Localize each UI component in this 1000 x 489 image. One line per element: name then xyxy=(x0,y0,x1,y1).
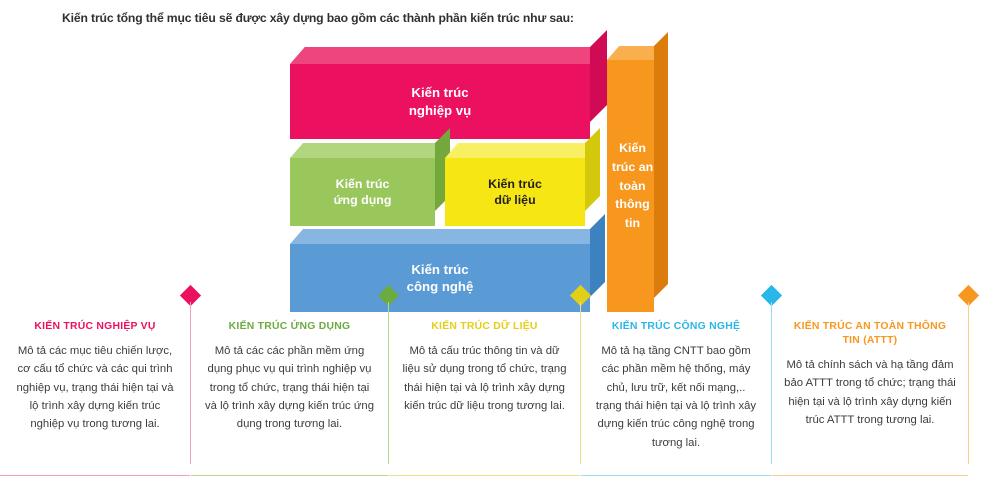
legend-title-security: KIẾN TRÚC AN TOÀN THÔNG TIN (ATTT) xyxy=(784,320,956,348)
legend-body-data: Mô tả cấu trúc thông tin và dữ liệu sử d… xyxy=(401,342,568,415)
legend-title-business: KIẾN TRÚC NGHIỆP VỤ xyxy=(12,320,178,334)
block-business-top-face xyxy=(290,47,605,64)
legend-column-technology: KIẾN TRÚC CÔNG NGHỆ Mô tả hạ tầng CNTT b… xyxy=(581,288,771,489)
block-business-side-face xyxy=(590,30,607,122)
block-technology-label-line1: Kiến trúc xyxy=(411,262,468,277)
architecture-legend: KIẾN TRÚC NGHIỆP VỤ Mô tả các mục tiêu c… xyxy=(0,288,1000,489)
block-business-front-face: Kiến trúc nghiệp vụ xyxy=(290,64,590,139)
baseline-security xyxy=(772,475,968,476)
page-title: Kiến trúc tổng thể mục tiêu sẽ được xây … xyxy=(62,11,574,25)
block-data-front-face: Kiến trúc dữ liệu xyxy=(445,158,585,226)
block-technology-side-face xyxy=(590,214,605,297)
block-data-architecture: Kiến trúc dữ liệu xyxy=(445,158,585,226)
legend-column-application: KIẾN TRÚC ỨNG DỤNG Mô tả các các phần mề… xyxy=(191,288,388,489)
divider-security xyxy=(968,302,969,464)
baseline-business xyxy=(0,475,190,476)
block-data-side-face xyxy=(585,128,600,211)
block-application-label-line1: Kiến trúc xyxy=(336,177,390,191)
legend-title-application: KIẾN TRÚC ỨNG DỤNG xyxy=(203,320,376,334)
baseline-application xyxy=(191,475,388,476)
legend-column-business: KIẾN TRÚC NGHIỆP VỤ Mô tả các mục tiêu c… xyxy=(0,288,190,489)
block-data-top-face xyxy=(445,143,598,158)
legend-body-security: Mô tả chính sách và hạ tầng đảm bảo ATTT… xyxy=(784,356,956,429)
legend-column-data: KIẾN TRÚC DỮ LIỆU Mô tả cấu trúc thông t… xyxy=(389,288,580,489)
block-security-side-face xyxy=(654,32,668,298)
legend-title-technology: KIẾN TRÚC CÔNG NGHỆ xyxy=(593,320,759,334)
legend-body-business: Mô tả các mục tiêu chiến lược, cơ cấu tổ… xyxy=(12,342,178,433)
block-security-architecture: Kiến trúc an toàn thông tin xyxy=(607,60,654,312)
block-data-label-line2: dữ liệu xyxy=(494,193,535,207)
block-application-top-face xyxy=(290,143,448,158)
block-business-architecture: Kiến trúc nghiệp vụ xyxy=(290,64,590,139)
block-application-front-face: Kiến trúc ứng dụng xyxy=(290,158,435,226)
architecture-diagram: Kiến trúc nghiệp vụ Kiến trúc ứng dụng K… xyxy=(283,47,683,292)
block-application-label-line2: ứng dụng xyxy=(334,193,392,207)
legend-body-technology: Mô tả hạ tầng CNTT bao gồm các phần mềm … xyxy=(593,342,759,452)
block-business-label-line2: nghiệp vụ xyxy=(409,103,471,118)
legend-body-application: Mô tả các các phần mềm ứng dụng phục vụ … xyxy=(203,342,376,433)
block-data-label-line1: Kiến trúc xyxy=(488,177,542,191)
block-security-front-face: Kiến trúc an toàn thông tin xyxy=(607,60,654,312)
block-application-architecture: Kiến trúc ứng dụng xyxy=(290,158,435,226)
legend-title-data: KIẾN TRÚC DỮ LIỆU xyxy=(401,320,568,334)
block-technology-top-face xyxy=(290,229,603,244)
baseline-data xyxy=(389,475,580,476)
legend-column-security: KIẾN TRÚC AN TOÀN THÔNG TIN (ATTT) Mô tả… xyxy=(772,288,968,489)
block-business-label-line1: Kiến trúc xyxy=(411,85,468,100)
block-security-label: Kiến trúc an toàn thông tin xyxy=(611,139,654,232)
baseline-technology xyxy=(581,475,771,476)
